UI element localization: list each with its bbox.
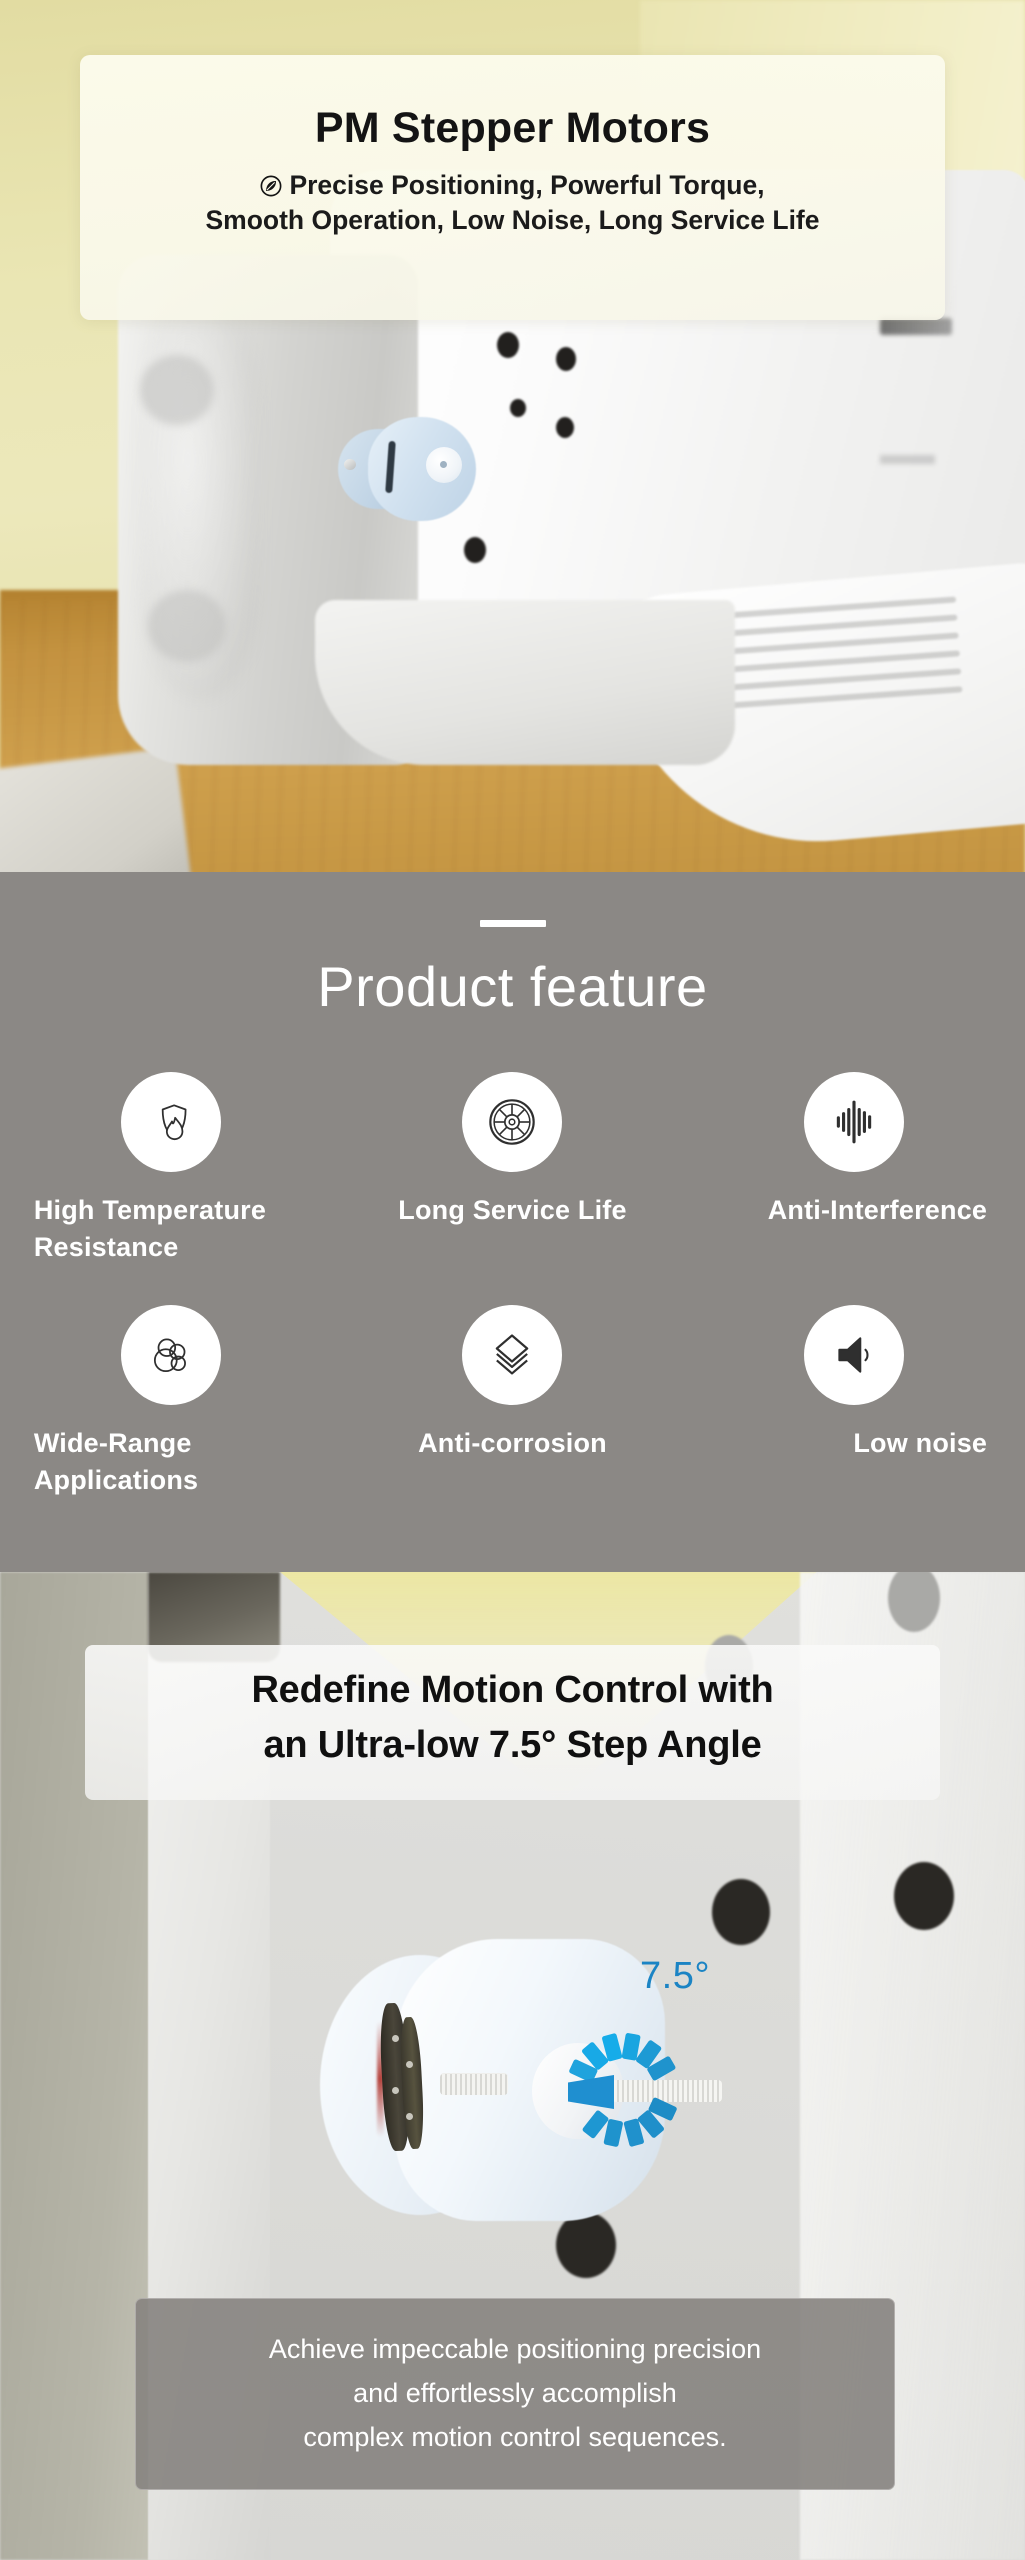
mount-hole [497,332,519,358]
feature-label: Long Service Life [367,1192,657,1229]
motor-shaft-left [440,2073,508,2095]
feature-icon-badge [121,1072,221,1172]
feature-icon-badge [804,1305,904,1405]
hero-stepper-motor [338,415,486,523]
caption-line1: Achieve impeccable positioning precision [269,2334,761,2364]
feature-item-wide-range-applications[interactable]: Wide-Range Applications [0,1305,342,1500]
magnet-dot [406,2113,413,2120]
feature-label: Low noise [709,1425,999,1462]
mount-hole [556,347,576,371]
wheel-gear-icon [486,1096,538,1148]
feature-grid: High Temperature Resistance [0,1072,1025,1499]
step-caption-text: Achieve impeccable positioning precision… [269,2328,761,2459]
layers-stack-icon [486,1329,538,1381]
sound-wave-icon [829,1097,879,1147]
feature-item-anti-corrosion[interactable]: Anti-corrosion [342,1305,684,1500]
mount-hole [556,417,574,438]
hero-subtitle-line2: Smooth Operation, Low Noise, Long Servic… [206,205,820,235]
wall-dot [894,1862,954,1930]
step-headline-line1: Redefine Motion Control with [251,1669,773,1711]
motor-shaft-cap [426,447,462,483]
magnet-dot [392,2035,399,2042]
feature-icon-badge [462,1072,562,1172]
printer-pad-upper [140,355,214,425]
feature-label: High Temperature Resistance [26,1192,316,1267]
hero-section: PM Stepper Motors Precise Positioning, P… [0,0,1025,872]
product-feature-section: Product feature High Temperature Resista… [0,872,1025,1572]
caption-line3: complex motion control sequences. [303,2422,726,2452]
leaf-icon [260,171,282,193]
feature-icon-badge [462,1305,562,1405]
product-page: PM Stepper Motors Precise Positioning, P… [0,0,1025,2560]
feature-item-long-service-life[interactable]: Long Service Life [342,1072,684,1267]
shield-flame-icon [146,1097,196,1147]
feature-item-high-temperature-resistance[interactable]: High Temperature Resistance [0,1072,342,1267]
hero-title-card: PM Stepper Motors Precise Positioning, P… [80,55,945,320]
printer-pad-lower [148,590,226,662]
caption-line2: and effortlessly accomplish [353,2378,677,2408]
feature-item-anti-interference[interactable]: Anti-Interference [683,1072,1025,1267]
step-headline-line2: an Ultra-low 7.5° Step Angle [263,1724,761,1766]
feature-icon-badge [804,1072,904,1172]
step-headline-card: Redefine Motion Control with an Ultra-lo… [85,1645,940,1800]
feature-label: Anti-Interference [709,1192,999,1229]
magnet-dot [406,2061,413,2068]
feature-label: Wide-Range Applications [26,1425,316,1500]
step-caption-panel: Achieve impeccable positioning precision… [135,2298,895,2490]
feature-item-low-noise[interactable]: Low noise [683,1305,1025,1500]
step-angle-value: 7.5° [640,1955,710,1998]
feature-icon-badge [121,1305,221,1405]
printer-seam [880,455,935,464]
motor-screw [344,459,356,470]
hero-paper-sheet [0,747,193,872]
printer-brand-mark [880,318,952,335]
feature-label: Anti-corrosion [367,1425,657,1462]
section-heading: Product feature [0,954,1025,1019]
mount-hole [464,537,486,563]
magnet-dot [392,2087,399,2094]
hero-subtitle-line1: Precise Positioning, Powerful Torque, [289,170,764,200]
step-headline: Redefine Motion Control with an Ultra-lo… [85,1663,940,1774]
page-title: PM Stepper Motors [80,105,945,152]
speaker-icon [829,1330,879,1380]
hero-subtitle: Precise Positioning, Powerful Torque, Sm… [80,168,945,238]
mount-hole [510,399,526,417]
heading-divider [480,920,546,927]
printer-vent-group [696,590,1004,731]
printer-front-lip [315,600,735,765]
cluster-circles-icon [146,1330,196,1380]
